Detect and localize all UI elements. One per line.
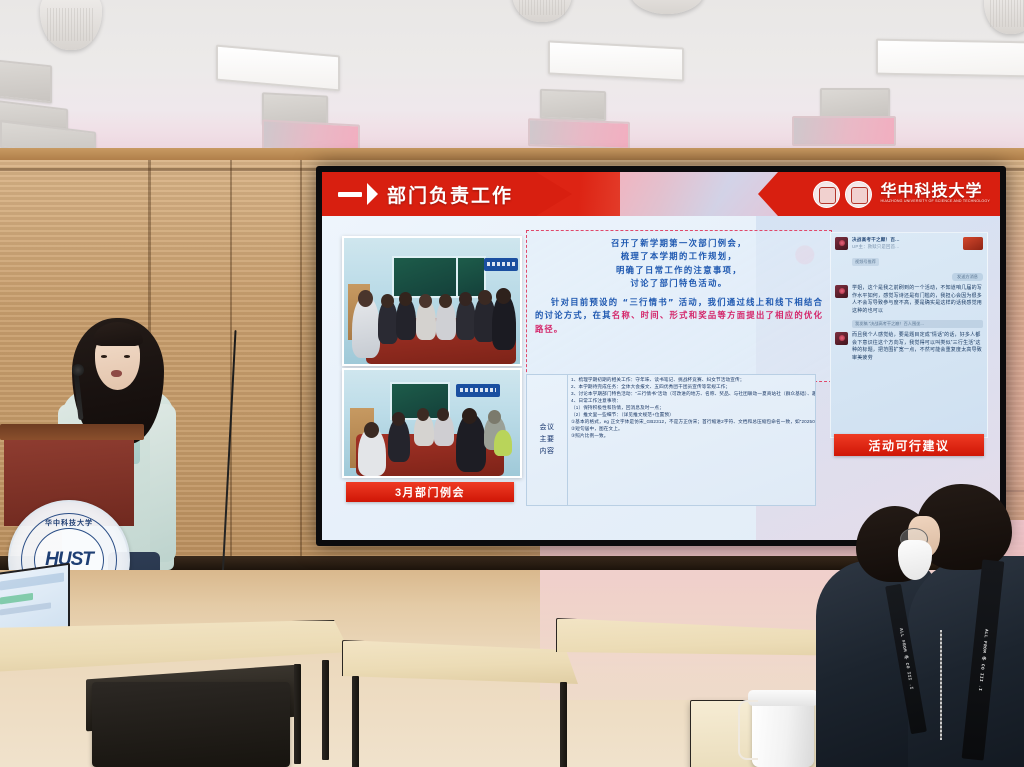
bottle-strap [738, 700, 758, 760]
chat-pill: 发送方消息 [952, 273, 983, 281]
air-vent-icon [820, 88, 890, 118]
minutes-row: 2、本学期待完成任务：全体大会报文、五四优秀团干团员宣传等常规工作； [571, 384, 812, 391]
emblem-name-cn: 华中科技大学 [45, 518, 93, 528]
desk-leg [560, 682, 567, 767]
minutes-row: （2）推文里一些细节：（详见推文规范+位置预） [571, 412, 812, 419]
chat-message-text: 学姐，这个是我之前刷到的一个活动，不知道咱几届的写作水平如何，感觉写诗还是有门槛… [852, 285, 983, 315]
note-line-1: 召开了新学期第一次部门例会， [535, 237, 823, 250]
presenter-mouth [111, 370, 122, 377]
chat-avatar [835, 237, 848, 250]
bottle-lid[interactable] [748, 690, 818, 706]
minutes-key-label: 会议主要内容 [527, 375, 568, 505]
presenter-arm-right [150, 404, 176, 562]
minutes-row: 3、讨论本学期部门特色活动：“三行情书”活动（可改进的地方、名称、奖品、与社团联… [571, 391, 812, 398]
slide-section-chevron: 部门负责工作 [322, 172, 572, 216]
minutes-row: 1、梳理学期初期的相关工作：守年味、读书笔记、挑战杯竞赛、妇女节活动宣传； [571, 377, 812, 384]
minutes-row: （1）保持积极性和热情，回消息及时一点； [571, 405, 812, 412]
handwritten-note-box: 召开了新学期第一次部门例会， 梳理了本学期的工作规划， 明确了日常工作的注意事项… [526, 230, 832, 382]
ceiling-speaker-icon [40, 0, 102, 50]
minutes-row: ①基本的格式，eg 正文字体是仿宋_GB2312，不是方正仿宋；首行缩进2字符、… [571, 419, 812, 426]
note-line-4: 讨论了部门特色活动。 [535, 277, 823, 290]
meeting-photo-1 [342, 236, 522, 366]
chevron-right-icon [367, 183, 378, 205]
minutes-row: 4、日常工作注意事项： [571, 398, 812, 405]
slide-header: 部门负责工作 华中科技大学 HUAZHONG UNIVERSITY OF SCI… [322, 172, 1000, 216]
minutes-row: ②短句居中，图在文上。 [571, 426, 812, 433]
chat-message-text: 而且我个人感觉给，要是题目定成“情话”的话，好多人都会下意识往这个方向写，我觉得… [852, 332, 983, 362]
desk-leg [352, 676, 359, 767]
microphone-icon [72, 364, 84, 376]
led-presentation-screen: 部门负责工作 华中科技大学 HUAZHONG UNIVERSITY OF SCI… [316, 166, 1006, 546]
ceiling [0, 0, 1024, 152]
desk-leg [294, 664, 301, 764]
recessed-light-icon [216, 45, 340, 92]
university-name-cn: 华中科技大学 [880, 183, 982, 200]
ceiling-speaker-icon [512, 0, 572, 22]
slide-body: 3月部门例会 召开了新学期第一次部门例会， 梳理了本学期的工作规划， 明确了日常… [322, 216, 1000, 540]
photo-caption-label: 3月部门例会 [346, 482, 514, 502]
podium-top-surface [0, 424, 144, 440]
recessed-light-pink-icon [528, 118, 630, 150]
youth-league-seal-icon [845, 181, 872, 208]
slide-title: 部门负责工作 [387, 181, 513, 208]
chat-avatar [835, 332, 848, 345]
recessed-light-pink-icon [792, 116, 896, 146]
hust-seal-icon [813, 181, 840, 208]
note-paragraph-highlight: 名称、时间、形式和奖品 [612, 310, 718, 320]
presenter-eye [124, 355, 130, 358]
air-vent-icon [0, 59, 52, 104]
chat-message: 而且我个人感觉给，要是题目定成“情话”的话，好多人都会下意识往这个方向写，我觉得… [835, 332, 983, 362]
ceiling-dome-light-icon [630, 0, 704, 14]
chat-sender-sub: UP主：救赎只是回首... [852, 244, 960, 250]
jacket-ribbon-text: ALL FROM 冬 CO III .I [977, 629, 989, 692]
jacket-zipper [940, 630, 942, 740]
chat-tag: 视频号推荐 [852, 258, 879, 266]
chat-reply-quote: 我发稿 “决战高考干之巅！百人围坐... [852, 320, 983, 328]
lecture-hall-photo: 部门负责工作 华中科技大学 HUAZHONG UNIVERSITY OF SCI… [0, 0, 1024, 767]
university-name-en: HUAZHONG UNIVERSITY OF SCIENCE AND TECHN… [880, 200, 990, 204]
chair-back[interactable] [92, 682, 290, 767]
air-vent-icon [540, 89, 606, 121]
suggestion-banner: 活动可行建议 [834, 434, 984, 456]
meeting-photo-2 [342, 368, 522, 478]
slide-branding: 华中科技大学 HUAZHONG UNIVERSITY OF SCIENCE AN… [758, 172, 1000, 216]
note-line-2: 梳理了本学期的工作规划， [535, 250, 823, 263]
presenter-eye [101, 355, 107, 358]
chat-screenshot-panel: 决战高考干之颠！百... UP主：救赎只是回首... 视频号推荐 发送方消息 学… [830, 232, 988, 438]
minutes-content: 1、梳理学期初期的相关工作：守年味、读书笔记、挑战杯竞赛、妇女节活动宣传； 2、… [568, 375, 815, 505]
minutes-row: ③照片比例一致。 [571, 433, 812, 440]
chat-sender-name: 决战高考干之颠！百... [852, 237, 960, 243]
chat-message: 决战高考干之颠！百... UP主：救赎只是回首... 视频号推荐 [835, 237, 983, 268]
section-dash-icon [338, 192, 362, 197]
desk-leg [322, 660, 329, 760]
note-line-3: 明确了日常工作的注意事项， [535, 264, 823, 277]
chat-message: 学姐，这个是我之前刷到的一个活动，不知道咱几届的写作水平如何，感觉写诗还是有门槛… [835, 285, 983, 315]
meeting-minutes-table: 会议主要内容 1、梳理学期初期的相关工作：守年味、读书笔记、挑战杯竞赛、妇女节活… [526, 374, 816, 506]
slide-surface: 部门负责工作 华中科技大学 HUAZHONG UNIVERSITY OF SCI… [322, 172, 1000, 540]
note-paragraph: 针对目前预设的 “三行情书” 活动，我们通过线上和线下相结合的讨论方式，在其名称… [535, 296, 823, 336]
recessed-light-icon [548, 40, 684, 81]
ceiling-speaker-icon [984, 0, 1024, 34]
recessed-light-icon [876, 39, 1024, 78]
university-name: 华中科技大学 HUAZHONG UNIVERSITY OF SCIENCE AN… [880, 184, 990, 204]
chat-avatar [835, 285, 848, 298]
chat-thumbnail [963, 237, 983, 250]
